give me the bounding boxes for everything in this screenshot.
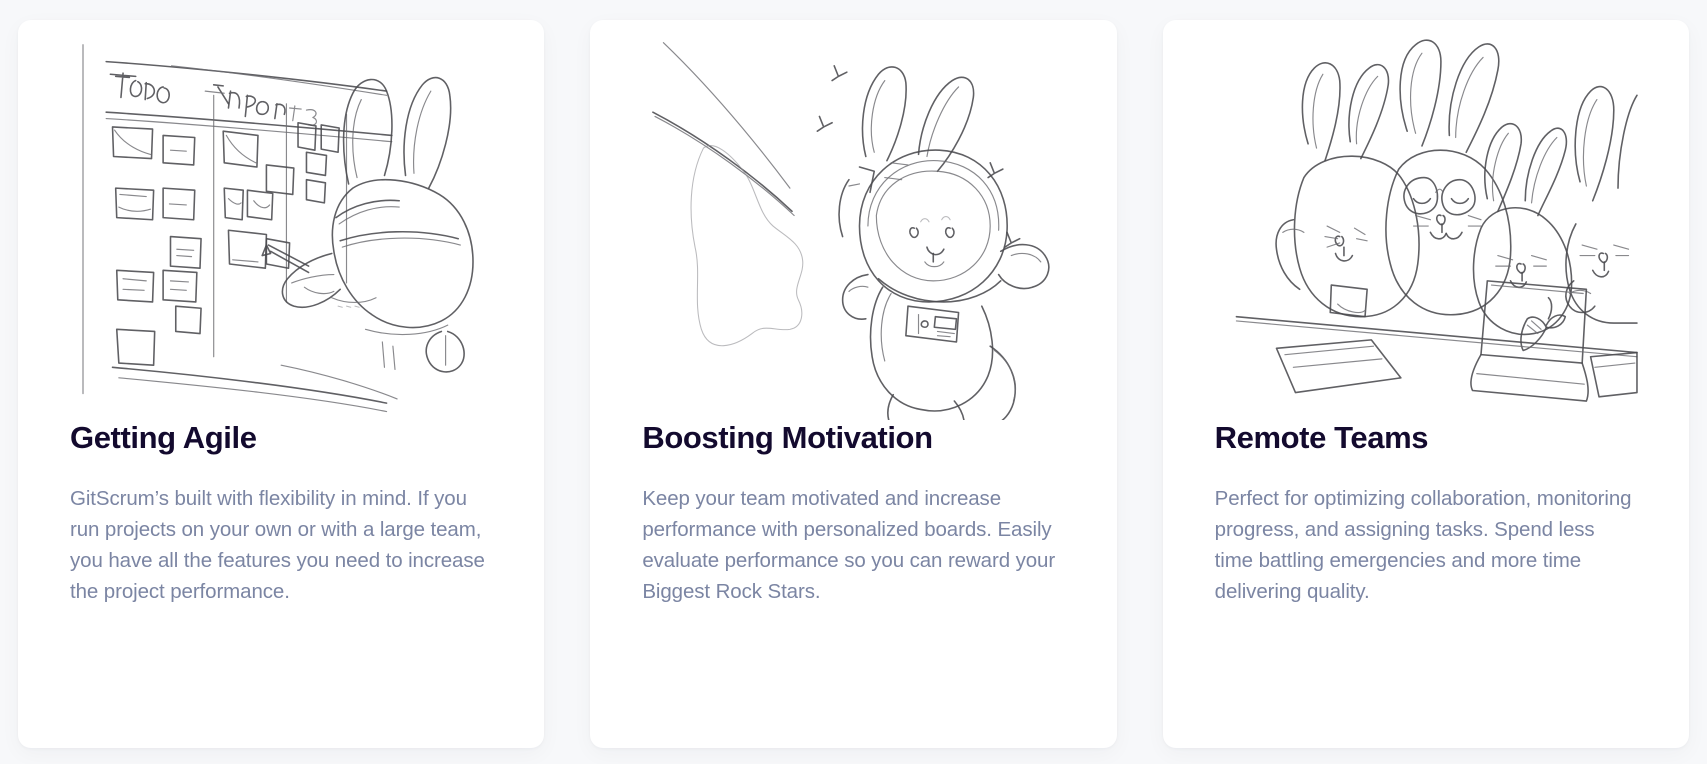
rabbit-at-kanban-board-sketch [18,20,544,420]
card-description: Perfect for optimizing collaboration, mo… [1215,483,1635,608]
feature-card-remote-teams[interactable]: Remote Teams Perfect for optimizing coll… [1163,20,1689,748]
card-body: Boosting Motivation Keep your team motiv… [590,420,1116,748]
card-description: Keep your team motivated and increase pe… [642,483,1062,608]
feature-card-getting-agile[interactable]: Getting Agile GitScrum’s built with flex… [18,20,544,748]
card-description: GitScrum’s built with flexibility in min… [70,483,490,608]
page-title: Getting Agile [70,420,492,457]
rabbit-team-with-laptop-sketch [1163,20,1689,420]
page-title: Boosting Motivation [642,420,1064,457]
card-body: Getting Agile GitScrum’s built with flex… [18,420,544,748]
feature-card-grid: Getting Agile GitScrum’s built with flex… [0,0,1707,764]
feature-card-boosting-motivation[interactable]: Boosting Motivation Keep your team motiv… [590,20,1116,748]
astronaut-rabbit-sketch [590,20,1116,420]
card-body: Remote Teams Perfect for optimizing coll… [1163,420,1689,748]
page-title: Remote Teams [1215,420,1637,457]
